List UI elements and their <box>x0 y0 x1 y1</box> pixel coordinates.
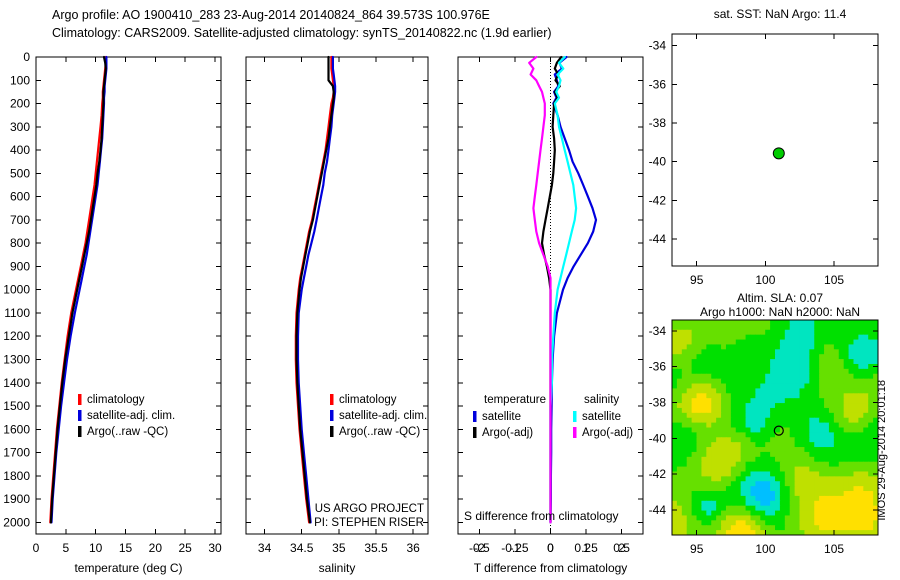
sla-cell <box>726 471 732 476</box>
sla-cell <box>711 398 717 403</box>
sla-cell <box>677 408 683 413</box>
sla-cell <box>677 501 683 506</box>
sla-cell <box>726 437 732 442</box>
sla-cell <box>804 437 810 442</box>
sla-cell <box>741 442 747 447</box>
sla-cell <box>692 393 698 398</box>
sla-cell <box>849 364 855 369</box>
sla-cell <box>809 447 815 452</box>
sla-cell <box>687 447 693 452</box>
sla-cell <box>829 374 835 379</box>
y-tick-label-100: 100 <box>10 73 30 87</box>
sla-cell <box>858 467 864 472</box>
sla-cell <box>726 384 732 389</box>
sla-cell <box>677 506 683 511</box>
sla-cell <box>765 471 771 476</box>
sla-cell <box>804 457 810 462</box>
sla-cell <box>692 423 698 428</box>
sla-cell <box>863 320 869 325</box>
sla-cell <box>682 344 688 349</box>
sla-cell <box>844 408 850 413</box>
sla-cell <box>775 452 781 457</box>
sla-cell <box>858 432 864 437</box>
sla-cell <box>765 354 771 359</box>
sla-cell <box>868 403 874 408</box>
sla-cell <box>863 369 869 374</box>
sla-cell <box>701 457 707 462</box>
sla-cell <box>750 408 756 413</box>
sla-cell <box>804 393 810 398</box>
sla-cell <box>721 486 727 491</box>
sla-cell <box>849 515 855 520</box>
sla-cell <box>697 481 703 486</box>
sla-cell <box>746 340 752 345</box>
sla-cell <box>765 349 771 354</box>
sla-cell <box>706 491 712 496</box>
sla-cell <box>824 403 830 408</box>
sla-cell <box>721 349 727 354</box>
sla-cell <box>800 335 806 340</box>
sla-cell <box>692 481 698 486</box>
sla-cell <box>775 471 781 476</box>
sla-cell <box>819 364 825 369</box>
legend-swatch-1 <box>78 410 82 421</box>
sla-cell <box>819 379 825 384</box>
plot-canvas: 0100200300400500600700800900100011001200… <box>0 0 900 580</box>
sla-cell <box>760 335 766 340</box>
sla-cell <box>819 335 825 340</box>
sla-cell <box>824 398 830 403</box>
sla-cell <box>736 447 742 452</box>
sla-cell <box>800 511 806 516</box>
sla-cell <box>804 388 810 393</box>
sla-cell <box>795 423 801 428</box>
sla-cell <box>819 432 825 437</box>
sla-cell <box>760 462 766 467</box>
sla-cell <box>741 432 747 437</box>
y-tick-label-1700: 1700 <box>3 446 30 460</box>
sla-cell <box>770 374 776 379</box>
salinity-profile-xtick-35.5: 35.5 <box>364 541 388 555</box>
sla-cell <box>839 447 845 452</box>
sla-cell <box>741 520 747 525</box>
sla-cell <box>844 457 850 462</box>
sla-cell <box>868 442 874 447</box>
sla-cell <box>721 437 727 442</box>
sla-cell <box>677 320 683 325</box>
sla-cell <box>750 452 756 457</box>
sla-cell <box>682 447 688 452</box>
sla-cell <box>809 471 815 476</box>
sla-cell <box>844 374 850 379</box>
sla-cell <box>726 501 732 506</box>
sla-cell <box>800 501 806 506</box>
sla-cell <box>765 506 771 511</box>
sla-cell <box>721 447 727 452</box>
sla-cell <box>765 423 771 428</box>
sla-cell <box>809 364 815 369</box>
sla-cell <box>858 452 864 457</box>
sla-cell <box>687 344 693 349</box>
sla-cell <box>819 384 825 389</box>
sla-cell <box>682 442 688 447</box>
sla-cell <box>863 511 869 516</box>
sla-cell <box>834 501 840 506</box>
sla-cell <box>706 423 712 428</box>
sla-cell <box>726 506 732 511</box>
sla-cell <box>687 496 693 501</box>
sla-cell <box>775 393 781 398</box>
sla-cell <box>853 388 859 393</box>
sla-cell <box>790 320 796 325</box>
sla-cell <box>687 467 693 472</box>
sla-cell <box>711 486 717 491</box>
sla-cell <box>829 481 835 486</box>
sla-cell <box>750 428 756 433</box>
sla-cell <box>775 506 781 511</box>
sla-cell <box>790 462 796 467</box>
sla-cell <box>711 476 717 481</box>
sla-cell <box>731 437 737 442</box>
sla-cell <box>795 496 801 501</box>
sla-cell <box>706 486 712 491</box>
sla-cell <box>795 374 801 379</box>
sla-cell <box>844 340 850 345</box>
sla-cell <box>765 457 771 462</box>
sla-cell <box>677 491 683 496</box>
sla-cell <box>677 388 683 393</box>
sla-cell <box>677 413 683 418</box>
sla-cell <box>829 511 835 516</box>
sla-cell <box>775 486 781 491</box>
sla-cell <box>868 511 874 516</box>
sla-cell <box>858 496 864 501</box>
sla-cell <box>682 325 688 330</box>
sla-cell <box>750 325 756 330</box>
temperature-profile-legend-label-1: satellite-adj. clim. <box>87 410 175 422</box>
sla-cell <box>687 369 693 374</box>
sla-cell <box>839 520 845 525</box>
sla-cell <box>795 403 801 408</box>
sla-cell <box>741 349 747 354</box>
sla-cell <box>750 491 756 496</box>
sla-cell <box>814 423 820 428</box>
argo-position-marker <box>773 148 784 159</box>
sla-ytick--38: -38 <box>649 395 667 409</box>
sla-cell <box>731 520 737 525</box>
sla-cell <box>868 520 874 525</box>
salinity-profile-xtick-34: 34 <box>258 541 272 555</box>
sla-cell <box>775 437 781 442</box>
sla-cell <box>790 515 796 520</box>
sla-cell <box>701 325 707 330</box>
sla-cell <box>785 398 791 403</box>
sla-cell <box>721 442 727 447</box>
sla-cell <box>824 432 830 437</box>
sla-cell <box>863 364 869 369</box>
sla-cell <box>731 330 737 335</box>
sla-cell <box>824 413 830 418</box>
sla-cell <box>844 452 850 457</box>
sla-cell <box>834 335 840 340</box>
sla-cell <box>726 398 732 403</box>
sla-cell <box>716 447 722 452</box>
sla-cell <box>731 501 737 506</box>
sla-cell <box>780 413 786 418</box>
sla-cell <box>682 413 688 418</box>
sla-cell <box>853 486 859 491</box>
sla-cell <box>785 432 791 437</box>
sla-cell <box>780 511 786 516</box>
sla-cell <box>780 384 786 389</box>
sla-cell <box>682 506 688 511</box>
sla-cell <box>839 340 845 345</box>
sla-cell <box>839 481 845 486</box>
sla-cell <box>780 476 786 481</box>
sla-cell <box>853 335 859 340</box>
sla-cell <box>800 506 806 511</box>
sla-cell <box>858 354 864 359</box>
sla-cell <box>829 457 835 462</box>
sla-cell <box>746 379 752 384</box>
sla-cell <box>775 330 781 335</box>
sla-cell <box>849 408 855 413</box>
sla-cell <box>741 354 747 359</box>
sla-cell <box>701 471 707 476</box>
sla-cell <box>746 413 752 418</box>
sla-cell <box>692 520 698 525</box>
sla-cell <box>853 349 859 354</box>
salinity-profile-frame <box>246 57 428 534</box>
sla-cell <box>800 481 806 486</box>
map-ytick--40: -40 <box>649 155 667 169</box>
sla-cell <box>814 413 820 418</box>
sla-cell <box>814 398 820 403</box>
sla-cell <box>682 349 688 354</box>
sla-cell <box>711 354 717 359</box>
sla-cell <box>800 349 806 354</box>
sla-cell <box>858 520 864 525</box>
sla-cell <box>849 496 855 501</box>
sla-cell <box>839 413 845 418</box>
sla-cell <box>775 481 781 486</box>
sla-cell <box>868 359 874 364</box>
sla-cell <box>829 525 835 530</box>
sla-cell <box>731 340 737 345</box>
sla-cell <box>731 442 737 447</box>
sla-cell <box>765 393 771 398</box>
sla-cell <box>824 418 830 423</box>
sla-cell <box>706 520 712 525</box>
sla-cell <box>716 374 722 379</box>
sla-cell <box>839 418 845 423</box>
sla-cell <box>770 335 776 340</box>
sla-cell <box>790 471 796 476</box>
sla-cell <box>706 506 712 511</box>
sla-cell <box>687 418 693 423</box>
sla-cell <box>844 384 850 389</box>
sla-cell <box>672 462 678 467</box>
sla-cell <box>672 408 678 413</box>
sla-cell <box>858 344 864 349</box>
sla-cell <box>853 442 859 447</box>
sla-cell <box>760 496 766 501</box>
sla-cell <box>795 393 801 398</box>
sla-cell <box>770 520 776 525</box>
sla-cell <box>716 320 722 325</box>
sla-cell <box>814 359 820 364</box>
sla-cell <box>800 525 806 530</box>
sla-cell <box>844 369 850 374</box>
sla-cell <box>839 330 845 335</box>
sla-cell <box>677 349 683 354</box>
sla-cell <box>750 525 756 530</box>
sla-cell <box>697 379 703 384</box>
sla-cell <box>687 442 693 447</box>
sla-cell <box>839 320 845 325</box>
sla-cell <box>809 393 815 398</box>
sla-cell <box>682 462 688 467</box>
sla-cell <box>770 486 776 491</box>
map-xtick-95: 95 <box>690 273 704 287</box>
sla-cell <box>785 486 791 491</box>
sla-cell <box>672 369 678 374</box>
sla-cell <box>834 423 840 428</box>
sla-cell <box>800 325 806 330</box>
sla-cell <box>716 491 722 496</box>
sla-cell <box>804 320 810 325</box>
sla-cell <box>687 506 693 511</box>
sla-cell <box>672 379 678 384</box>
sla-cell <box>824 374 830 379</box>
sla-cell <box>819 403 825 408</box>
sla-cell <box>736 432 742 437</box>
sla-cell <box>672 515 678 520</box>
sla-cell <box>692 506 698 511</box>
sla-cell <box>809 520 815 525</box>
sla-cell <box>853 403 859 408</box>
sla-cell <box>804 364 810 369</box>
sla-cell <box>770 511 776 516</box>
sla-cell <box>819 344 825 349</box>
sla-cell <box>844 501 850 506</box>
sla-cell <box>770 525 776 530</box>
sla-cell <box>711 349 717 354</box>
sla-cell <box>800 432 806 437</box>
sla-cell <box>701 476 707 481</box>
sla-cell <box>741 335 747 340</box>
temperature-profile-xtick-20: 20 <box>149 541 163 555</box>
sla-cell <box>775 379 781 384</box>
sla-cell <box>863 437 869 442</box>
sla-cell <box>819 515 825 520</box>
sla-cell <box>853 384 859 389</box>
sla-cell <box>711 452 717 457</box>
sla-cell <box>853 476 859 481</box>
sla-cell <box>701 506 707 511</box>
sla-cell <box>780 437 786 442</box>
sla-cell <box>716 359 722 364</box>
y-tick-label-1800: 1800 <box>3 469 30 483</box>
sla-cell <box>682 501 688 506</box>
sla-cell <box>790 423 796 428</box>
difference-profile-s-xtick-0.25: 0.25 <box>574 541 598 555</box>
sla-cell <box>795 354 801 359</box>
sla-cell <box>839 437 845 442</box>
sla-cell <box>701 398 707 403</box>
sla-cell <box>741 496 747 501</box>
sla-cell <box>682 408 688 413</box>
sla-cell <box>672 374 678 379</box>
sla-cell <box>800 428 806 433</box>
sla-cell <box>858 398 864 403</box>
sla-cell <box>839 515 845 520</box>
sla-cell <box>824 388 830 393</box>
sla-cell <box>839 335 845 340</box>
sla-cell <box>711 359 717 364</box>
sla-cell <box>746 330 752 335</box>
sla-cell <box>711 501 717 506</box>
sla-cell <box>677 471 683 476</box>
sla-cell <box>853 359 859 364</box>
sla-cell <box>682 354 688 359</box>
sla-cell <box>844 423 850 428</box>
sla-cell <box>682 496 688 501</box>
sla-cell <box>682 320 688 325</box>
sla-cell <box>790 403 796 408</box>
sla-cell <box>770 349 776 354</box>
sla-cell <box>868 398 874 403</box>
sla-cell <box>677 496 683 501</box>
sla-cell <box>849 335 855 340</box>
sla-cell <box>844 432 850 437</box>
sla-cell <box>863 398 869 403</box>
salinity-profile-xtick-36: 36 <box>406 541 420 555</box>
sla-cell <box>834 437 840 442</box>
sla-cell <box>790 369 796 374</box>
sla-cell <box>814 491 820 496</box>
sla-ytick--34: -34 <box>649 324 667 338</box>
sla-cell <box>770 476 776 481</box>
sla-cell <box>755 457 761 462</box>
sla-cell <box>682 428 688 433</box>
sla-cell <box>785 408 791 413</box>
sla-cell <box>731 403 737 408</box>
y-tick-label-700: 700 <box>10 213 30 227</box>
sla-cell <box>682 393 688 398</box>
sla-ytick--40: -40 <box>649 431 667 445</box>
difference-legend-label-1-1: Argo(-adj) <box>582 427 633 439</box>
sla-cell <box>800 369 806 374</box>
sla-cell <box>853 520 859 525</box>
sla-cell <box>672 344 678 349</box>
sla-cell <box>726 442 732 447</box>
sla-cell <box>863 515 869 520</box>
sla-cell <box>677 325 683 330</box>
sla-cell <box>672 335 678 340</box>
sla-cell <box>770 393 776 398</box>
sla-cell <box>834 359 840 364</box>
sla-cell <box>755 452 761 457</box>
sla-cell <box>755 364 761 369</box>
sla-cell <box>701 491 707 496</box>
sla-cell <box>834 486 840 491</box>
sla-cell <box>687 330 693 335</box>
sla-cell <box>726 359 732 364</box>
sla-cell <box>677 384 683 389</box>
sla-cell <box>853 432 859 437</box>
sla-cell <box>692 320 698 325</box>
